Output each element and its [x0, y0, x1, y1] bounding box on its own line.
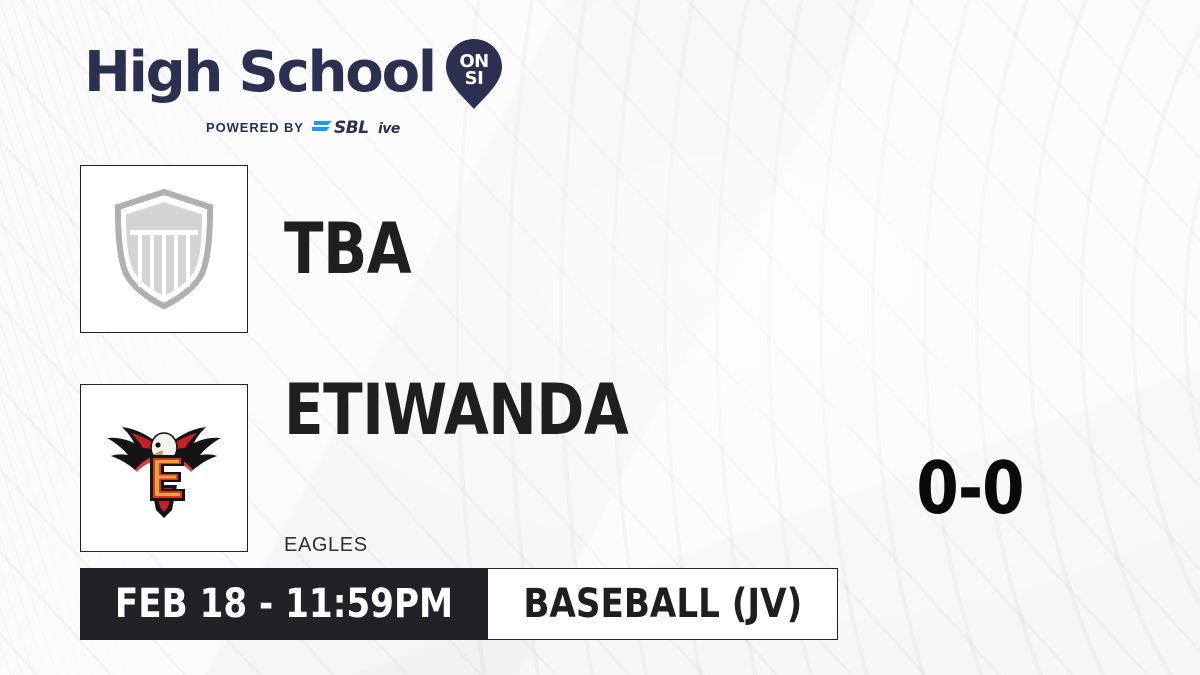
on-si-pin-icon: ON SI	[445, 38, 503, 110]
svg-text:SBL: SBL	[334, 118, 369, 138]
game-datetime-label: FEB 18 - 11:59PM	[115, 584, 453, 624]
game-sport-bar: BASEBALL (JV)	[488, 568, 839, 640]
matchup-card: High School ON SI POWERED BY	[0, 0, 1200, 675]
team-logo-box-home	[80, 384, 248, 552]
team-text-home: ETIWANDA EAGLES	[284, 378, 658, 557]
team-row-home: ETIWANDA EAGLES	[80, 378, 658, 557]
sblive-logo-icon: SBL ive	[312, 116, 424, 138]
game-info-bar: FEB 18 - 11:59PM BASEBALL (JV)	[80, 568, 838, 640]
powered-by-row: POWERED BY SBL ive	[84, 116, 503, 138]
team-name-home: ETIWANDA	[284, 378, 628, 442]
game-datetime-bar: FEB 18 - 11:59PM	[80, 568, 488, 640]
brand-header: High School ON SI POWERED BY	[84, 36, 503, 138]
svg-text:SI: SI	[465, 68, 484, 89]
brand-row: High School ON SI	[84, 36, 503, 110]
game-sport-label: BASEBALL (JV)	[523, 584, 802, 624]
team-text-away: TBA	[284, 217, 422, 281]
team-name-away: TBA	[284, 217, 411, 281]
team-row-away: TBA	[80, 165, 422, 333]
powered-by-label: POWERED BY	[206, 120, 304, 135]
eagle-logo-icon	[104, 415, 224, 520]
shield-placeholder-icon	[110, 188, 218, 310]
team-logo-box-away	[80, 165, 248, 333]
team-mascot-home: EAGLES	[284, 534, 658, 557]
score-display: 0-0	[868, 452, 1071, 524]
brand-wordmark: High School	[84, 45, 435, 101]
svg-text:ive: ive	[378, 121, 400, 137]
